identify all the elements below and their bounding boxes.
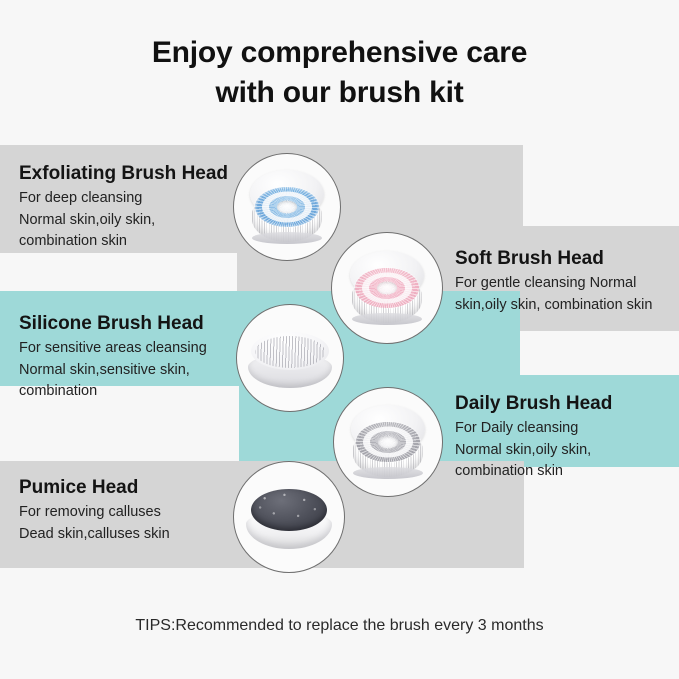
panel-silicone-description: For sensitive areas cleansing Normal ski…	[19, 338, 207, 402]
panel-pumice-description: For removing calluses Dead skin,calluses…	[19, 502, 170, 545]
panel-soft-description: For gentle cleansing Normal skin,oily sk…	[455, 273, 652, 316]
panel-soft-desc-line-1: For gentle cleansing Normal	[455, 273, 652, 294]
panel-exfoliating-desc-line-1: For deep cleansing	[19, 188, 228, 209]
silicone-dome	[248, 332, 332, 388]
panel-daily-desc-line-2: Normal skin,oily skin,	[455, 440, 612, 461]
panel-daily-description: For Daily cleansing Normal skin,oily ski…	[455, 418, 612, 482]
panel-silicone-desc-line-1: For sensitive areas cleansing	[19, 338, 207, 359]
soft-brush-head-icon	[332, 233, 442, 343]
silicone-bristle-face	[251, 332, 329, 370]
panel-daily-text: Daily Brush Head For Daily cleansing Nor…	[455, 393, 612, 482]
panel-silicone-desc-line-2: Normal skin,sensitive skin,	[19, 360, 207, 381]
soft-brush-head-image	[331, 232, 443, 344]
panel-pumice-title: Pumice Head	[19, 477, 170, 499]
product-infographic: Enjoy comprehensive care with our brush …	[0, 0, 679, 679]
page-title: Enjoy comprehensive care with our brush …	[0, 33, 679, 112]
brush-hub	[378, 436, 398, 449]
panel-silicone-desc-line-3: combination	[19, 381, 207, 402]
page-title-line-1: Enjoy comprehensive care	[0, 33, 679, 73]
pumice-head-icon	[234, 462, 344, 572]
silicone-brush-head-image	[236, 304, 344, 412]
panel-daily-title: Daily Brush Head	[455, 393, 612, 415]
panel-silicone-text: Silicone Brush Head For sensitive areas …	[19, 313, 207, 402]
panel-exfoliating-desc-line-3: combination skin	[19, 231, 228, 252]
panel-exfoliating-description: For deep cleansing Normal skin,oily skin…	[19, 188, 228, 252]
panel-pumice-text: Pumice Head For removing calluses Dead s…	[19, 477, 170, 545]
panel-silicone-title: Silicone Brush Head	[19, 313, 207, 335]
brush-hub	[277, 201, 297, 214]
brush-hub	[377, 282, 397, 295]
panel-daily-desc-line-3: combination skin	[455, 461, 612, 482]
footer-tips: TIPS:Recommended to replace the brush ev…	[0, 617, 679, 635]
panel-daily-desc-line-1: For Daily cleansing	[455, 418, 612, 439]
panel-pumice-desc-line-2: Dead skin,calluses skin	[19, 524, 170, 545]
brush-body	[349, 403, 427, 481]
brush-body	[248, 168, 326, 246]
page-title-line-2: with our brush kit	[0, 73, 679, 113]
exfoliating-brush-head-image	[233, 153, 341, 261]
exfoliating-brush-head-icon	[234, 154, 340, 260]
panel-exfoliating-text: Exfoliating Brush Head For deep cleansin…	[19, 163, 228, 252]
panel-soft-desc-line-2: skin,oily skin, combination skin	[455, 295, 652, 316]
pumice-stone-surface	[251, 489, 327, 531]
pumice-assembly	[246, 489, 332, 549]
brush-body	[348, 249, 426, 327]
panel-soft-title: Soft Brush Head	[455, 248, 652, 270]
panel-exfoliating-desc-line-2: Normal skin,oily skin,	[19, 210, 228, 231]
panel-exfoliating-title: Exfoliating Brush Head	[19, 163, 228, 185]
panel-soft-text: Soft Brush Head For gentle cleansing Nor…	[455, 248, 652, 316]
panel-pumice-desc-line-1: For removing calluses	[19, 502, 170, 523]
daily-brush-head-icon	[334, 388, 442, 496]
pumice-head-image	[233, 461, 345, 573]
silicone-brush-head-icon	[237, 305, 343, 411]
daily-brush-head-image	[333, 387, 443, 497]
